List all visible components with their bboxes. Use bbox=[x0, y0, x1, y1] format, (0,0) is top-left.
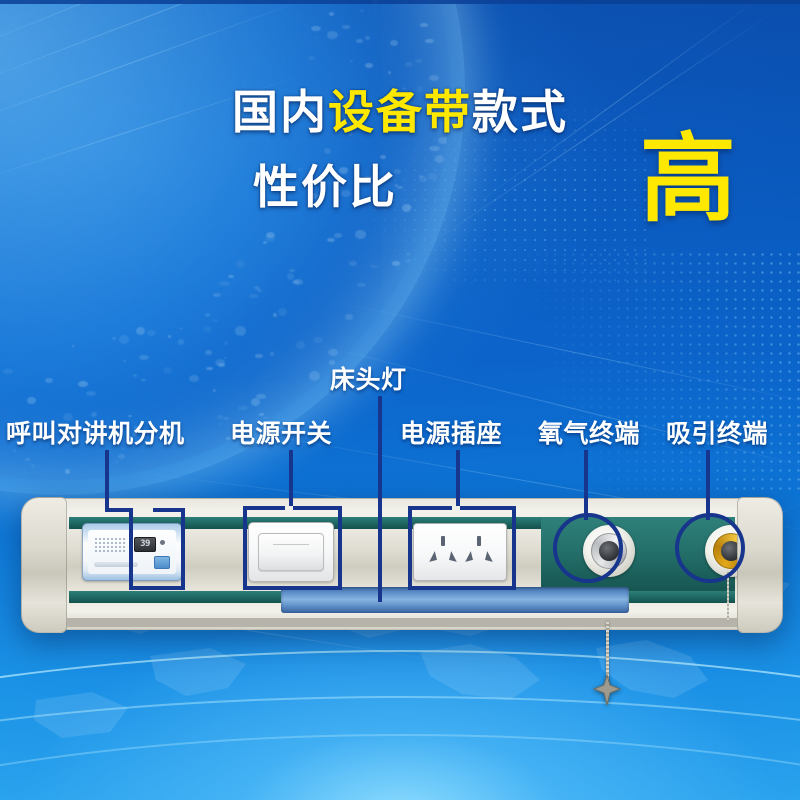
leader-box-socket-right bbox=[512, 506, 516, 590]
leader-box-intercom-left bbox=[129, 508, 133, 590]
leader-circle-suction bbox=[674, 512, 746, 584]
leader-box-switch-right bbox=[338, 506, 342, 590]
leader-box-intercom-bottom bbox=[129, 586, 185, 590]
callout-power-switch: 电源开关 bbox=[230, 414, 332, 450]
leader-box-switch-bottom bbox=[243, 586, 342, 590]
callout-oxygen-terminal: 氧气终端 bbox=[538, 414, 640, 450]
leader-line-switch-vertical bbox=[289, 450, 293, 506]
leader-box-intercom-right bbox=[181, 508, 185, 590]
callout-bed-lamp: 床头灯 bbox=[330, 360, 407, 396]
callout-power-socket: 电源插座 bbox=[400, 414, 502, 450]
leader-box-switch-left bbox=[243, 506, 247, 590]
leader-line-oxygen bbox=[584, 450, 588, 520]
leader-box-switch-top-r bbox=[293, 506, 342, 510]
leader-box-socket-left bbox=[408, 506, 412, 590]
leader-box-intercom-top bbox=[153, 508, 185, 512]
leader-box-socket-top-r bbox=[460, 506, 516, 510]
callout-layer: 呼叫对讲机分机 电源开关 床头灯 电源插座 氧气终端 吸引终端 bbox=[0, 0, 800, 800]
leader-box-socket-bottom bbox=[408, 586, 516, 590]
leader-line-lamp bbox=[378, 396, 382, 602]
promo-banner: 国内设备带款式 性价比 高 呼叫对讲机分机 电源开关 床头灯 电源插座 氧气终 bbox=[0, 0, 800, 800]
leader-line-suction bbox=[706, 450, 710, 520]
callout-suction-terminal: 吸引终端 bbox=[666, 414, 768, 450]
leader-line-socket-vertical bbox=[456, 450, 460, 506]
leader-circle-oxygen bbox=[552, 512, 624, 584]
leader-line-intercom-vertical bbox=[105, 450, 109, 508]
leader-box-socket-top-l bbox=[408, 506, 452, 510]
leader-box-switch-top-l bbox=[243, 506, 285, 510]
callout-intercom: 呼叫对讲机分机 bbox=[6, 414, 185, 450]
